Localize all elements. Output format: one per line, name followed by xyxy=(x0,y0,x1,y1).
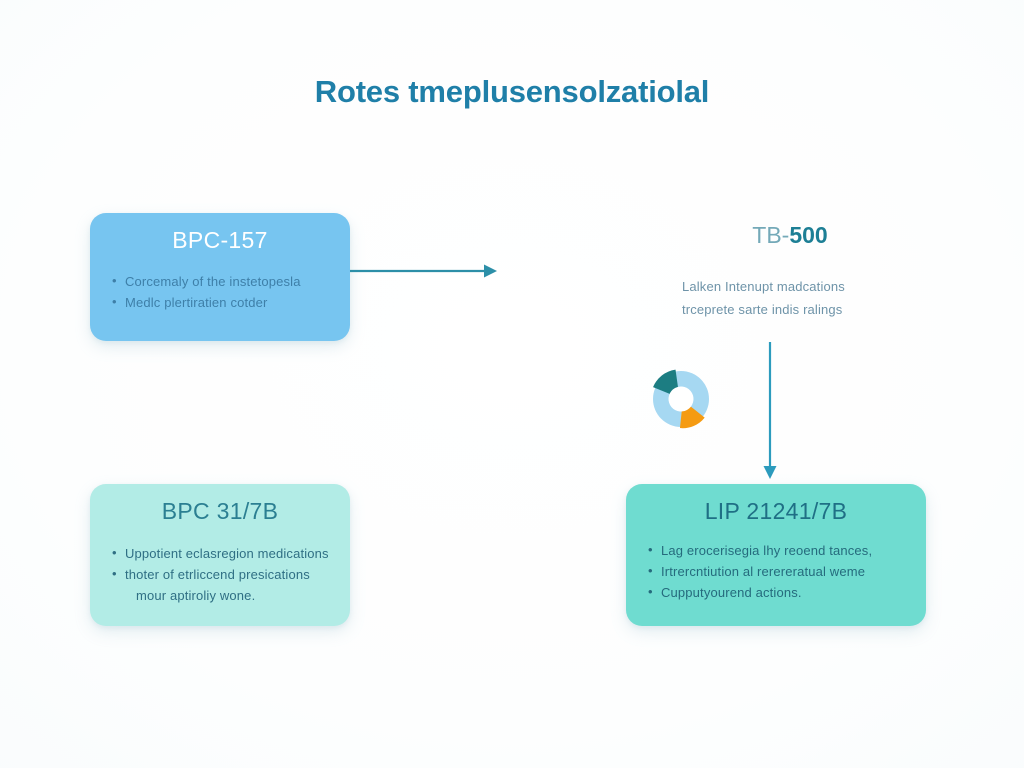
page-title: Rotes tmeplusensolzatiolal xyxy=(0,74,1024,110)
tb500-title: TB-500 xyxy=(660,222,920,249)
tb500-body: Lalken Intenupt madcations trceprete sar… xyxy=(660,275,920,321)
card-bullet-list: Lag erocerisegia lhy reoend tances, Irtr… xyxy=(646,540,906,603)
list-item: Medlc plertiratien cotder xyxy=(110,292,330,313)
card-bullet-list: Corcemaly of the instetopesla Medlc pler… xyxy=(110,271,330,313)
block-tb-500[interactable]: TB-500 Lalken Intenupt madcations trcepr… xyxy=(660,222,920,321)
tb500-body-line: Lalken Intenupt madcations xyxy=(682,275,920,298)
list-item: Lag erocerisegia lhy reoend tances, xyxy=(646,540,906,561)
card-title: BPC-157 xyxy=(110,227,330,254)
list-item: Uppotient eclasregion medications xyxy=(110,543,330,564)
card-title: BPC 31/7B xyxy=(110,498,330,525)
donut-chart-icon xyxy=(648,366,714,432)
diagram-canvas: Rotes tmeplusensolzatiolal BPC-157 Corce… xyxy=(0,0,1024,768)
tb500-body-line: trceprete sarte indis ralings xyxy=(682,298,920,321)
list-item: Cupputyourend actions. xyxy=(646,582,906,603)
list-item: Irtrercntiution al rerereratual weme xyxy=(646,561,906,582)
card-bpc-157[interactable]: BPC-157 Corcemaly of the instetopesla Me… xyxy=(90,213,350,341)
arrow-bpc157-to-tb500 xyxy=(348,258,498,284)
arrow-tb500-to-lip xyxy=(757,340,783,480)
card-bullet-list: Uppotient eclasregion medications thoter… xyxy=(110,543,330,606)
card-title: LIP 21241/7B xyxy=(646,498,906,525)
list-item: thoter of etrliccend presications xyxy=(110,564,330,585)
card-bpc-31-7b[interactable]: BPC 31/7B Uppotient eclasregion medicati… xyxy=(90,484,350,626)
card-lip-21241-7b[interactable]: LIP 21241/7B Lag erocerisegia lhy reoend… xyxy=(626,484,926,626)
list-item: Corcemaly of the instetopesla xyxy=(110,271,330,292)
tb500-title-suffix: 500 xyxy=(789,222,827,248)
list-item: mour aptiroliy wone. xyxy=(110,585,330,606)
tb500-title-prefix: TB- xyxy=(752,222,789,248)
